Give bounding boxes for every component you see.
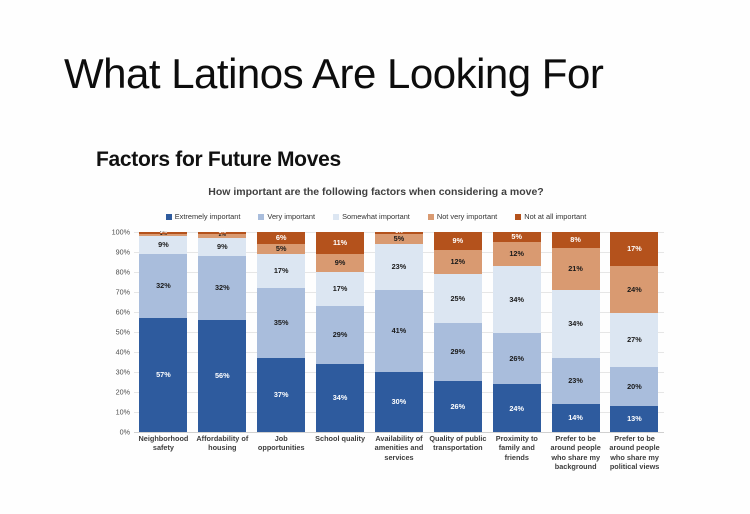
legend-item-label: Not very important (437, 212, 497, 221)
bar-segment[interactable]: 34% (552, 290, 600, 358)
bar-segment[interactable]: 17% (257, 254, 305, 288)
stacked-bar-column[interactable]: 26%29%25%12%9% (434, 232, 482, 432)
y-axis-tick-label: 90% (116, 248, 130, 257)
bar-segment-label: 20% (627, 383, 642, 390)
bar-segment-label: 41% (392, 327, 407, 334)
bar-segment-label: 9% (158, 241, 169, 248)
bar-segment-label: 26% (509, 355, 524, 362)
y-axis-tick-label: 10% (116, 408, 130, 417)
x-axis-tick-label: Job opportunities (252, 434, 311, 494)
bar-series-group: 57%32%9%1%1%56%32%9%2%1%37%35%17%5%6%34%… (134, 232, 664, 432)
bar-segment-label: 24% (509, 405, 524, 412)
y-axis-tick-label: 20% (116, 388, 130, 397)
legend-swatch-icon (166, 214, 172, 220)
chart-legend: Extremely importantVery importantSomewha… (96, 212, 656, 221)
bar-segment[interactable]: 23% (552, 358, 600, 404)
legend-item-label: Not at all important (524, 212, 586, 221)
stacked-bar-column[interactable]: 37%35%17%5%6% (257, 232, 305, 432)
bar-segment-label: 5% (511, 233, 522, 240)
bar-segment[interactable]: 1% (198, 232, 246, 234)
bar-segment-label: 1% (395, 230, 403, 235)
x-axis-tick-label: School quality (311, 434, 370, 494)
legend-item[interactable]: Somewhat important (333, 212, 410, 221)
legend-swatch-icon (333, 214, 339, 220)
bar-segment-label: 26% (451, 403, 466, 410)
x-axis-tick-label: Prefer to be around people who share my … (546, 434, 605, 494)
bar-segment-label: 21% (568, 265, 583, 272)
y-axis-labels: 0%10%20%30%40%50%60%70%80%90%100% (98, 232, 130, 432)
bar-segment[interactable]: 23% (375, 244, 423, 290)
bar-segment-label: 17% (333, 285, 348, 292)
bar-segment[interactable]: 17% (610, 232, 658, 266)
chart-title: Factors for Future Moves (96, 148, 341, 172)
y-axis-tick-label: 80% (116, 268, 130, 277)
bar-segment-label: 8% (570, 236, 581, 243)
stacked-bar-column[interactable]: 24%26%34%12%5% (493, 232, 541, 432)
bar-segment-label: 29% (333, 331, 348, 338)
bar-segment-label: 56% (215, 372, 230, 379)
bar-segment-label: 29% (451, 348, 466, 355)
y-axis-tick-label: 70% (116, 288, 130, 297)
bar-segment[interactable]: 57% (139, 318, 187, 432)
bar-segment-label: 9% (217, 243, 228, 250)
y-axis-tick-label: 30% (116, 368, 130, 377)
bar-segment[interactable]: 26% (434, 381, 482, 432)
bar-segment[interactable]: 11% (316, 232, 364, 254)
bar-segment-label: 5% (394, 235, 405, 242)
bar-segment-label: 30% (392, 398, 407, 405)
bar-segment[interactable]: 34% (316, 364, 364, 432)
legend-item[interactable]: Very important (258, 212, 315, 221)
stacked-bar-column[interactable]: 14%23%34%21%8% (552, 232, 600, 432)
bar-segment-label: 35% (274, 319, 289, 326)
bar-segment[interactable]: 24% (610, 266, 658, 314)
bar-segment[interactable]: 8% (552, 232, 600, 248)
bar-segment[interactable]: 30% (375, 372, 423, 432)
x-axis-tick-label: Availability of amenities and services (370, 434, 429, 494)
bar-segment-label: 5% (276, 245, 287, 252)
bar-segment[interactable]: 9% (434, 232, 482, 250)
bar-segment-label: 37% (274, 391, 289, 398)
legend-item-label: Extremely important (175, 212, 241, 221)
bar-segment[interactable]: 6% (257, 232, 305, 244)
bar-segment[interactable]: 1% (139, 232, 187, 234)
bar-segment[interactable]: 5% (493, 232, 541, 242)
bar-segment-label: 9% (453, 237, 464, 244)
bar-segment[interactable]: 5% (257, 244, 305, 254)
bar-segment[interactable]: 32% (198, 256, 246, 320)
bar-segment[interactable]: 27% (610, 313, 658, 366)
bar-segment[interactable]: 9% (316, 254, 364, 272)
bar-segment[interactable]: 29% (316, 306, 364, 364)
bar-segment-label: 1% (160, 230, 168, 235)
legend-item[interactable]: Not very important (428, 212, 497, 221)
legend-item[interactable]: Not at all important (515, 212, 586, 221)
bar-segment[interactable]: 12% (434, 250, 482, 274)
stacked-bar-column[interactable]: 34%29%17%9%11% (316, 232, 364, 432)
bar-segment[interactable]: 24% (493, 384, 541, 432)
y-axis-tick-label: 50% (116, 328, 130, 337)
bar-segment-label: 17% (627, 245, 642, 252)
bar-segment[interactable]: 17% (316, 272, 364, 306)
bar-segment[interactable]: 56% (198, 320, 246, 432)
x-axis-tick-label: Prefer to be around people who share my … (605, 434, 664, 494)
bar-segment-label: 6% (276, 234, 287, 241)
bar-segment-label: 11% (333, 239, 347, 246)
bar-segment-label: 13% (627, 415, 642, 422)
bar-segment-label: 25% (451, 295, 466, 302)
x-axis-tick-label: Affordability of housing (193, 434, 252, 494)
legend-swatch-icon (428, 214, 434, 220)
legend-swatch-icon (515, 214, 521, 220)
y-axis-tick-label: 60% (116, 308, 130, 317)
bar-segment-label: 34% (333, 394, 348, 401)
chart-container: Factors for Future Moves How important a… (0, 140, 750, 490)
bar-segment[interactable]: 41% (375, 290, 423, 372)
bar-segment[interactable]: 25% (434, 274, 482, 324)
y-axis-tick-label: 0% (120, 428, 130, 437)
stacked-bar-column[interactable]: 56%32%9%2%1% (198, 232, 246, 432)
bar-segment[interactable]: 13% (610, 406, 658, 432)
bar-segment-label: 24% (627, 286, 642, 293)
bar-segment[interactable]: 21% (552, 248, 600, 290)
bar-segment-label: 12% (509, 250, 524, 257)
bar-segment[interactable]: 12% (493, 242, 541, 266)
bar-segment-label: 17% (274, 267, 289, 274)
bar-segment-label: 1% (219, 230, 227, 235)
bar-segment-label: 32% (215, 284, 230, 291)
bar-segment-label: 57% (156, 371, 171, 378)
bar-segment-label: 23% (392, 263, 407, 270)
bar-segment[interactable]: 35% (257, 288, 305, 358)
slide-main-title: What Latinos Are Looking For (64, 50, 603, 98)
x-axis-tick-label: Quality of public transportation (428, 434, 487, 494)
legend-item-label: Somewhat important (342, 212, 410, 221)
chart-subtitle: How important are the following factors … (96, 186, 656, 198)
slide-canvas: What Latinos Are Looking For Factors for… (0, 0, 750, 514)
y-axis-tick-label: 40% (116, 348, 130, 357)
x-axis-tick-label: Neighborhood safety (134, 434, 193, 494)
stacked-bar-column[interactable]: 57%32%9%1%1% (139, 232, 187, 432)
bar-segment[interactable]: 14% (552, 404, 600, 432)
bar-segment-label: 34% (568, 320, 583, 327)
bar-segment-label: 9% (335, 259, 346, 266)
bar-segment[interactable]: 9% (198, 238, 246, 256)
plot-area: 0%10%20%30%40%50%60%70%80%90%100% 57%32%… (0, 232, 750, 440)
legend-swatch-icon (258, 214, 264, 220)
bar-segment-label: 27% (627, 336, 642, 343)
x-axis-labels: Neighborhood safetyAffordability of hous… (134, 434, 664, 494)
bar-segment[interactable]: 1% (375, 232, 423, 234)
y-axis-tick-label: 100% (112, 228, 130, 237)
bar-segment[interactable]: 29% (434, 323, 482, 380)
bar-segment-label: 32% (156, 282, 171, 289)
bar-segment[interactable]: 34% (493, 266, 541, 333)
bar-segment[interactable]: 37% (257, 358, 305, 432)
legend-item[interactable]: Extremely important (166, 212, 241, 221)
bar-segment[interactable]: 20% (610, 367, 658, 407)
stacked-bar-column[interactable]: 30%41%23%5%1% (375, 232, 423, 432)
gridline (134, 432, 664, 433)
bar-segment[interactable]: 26% (493, 333, 541, 384)
stacked-bar-column[interactable]: 13%20%27%24%17% (610, 232, 658, 432)
bar-segment-label: 34% (509, 296, 524, 303)
legend-item-label: Very important (267, 212, 315, 221)
x-axis-tick-label: Proximity to family and friends (487, 434, 546, 494)
bar-segment-label: 23% (568, 377, 583, 384)
bar-segment-label: 14% (568, 414, 583, 421)
bar-segment-label: 12% (451, 258, 466, 265)
bar-segment[interactable]: 32% (139, 254, 187, 318)
bar-segment[interactable]: 9% (139, 236, 187, 254)
